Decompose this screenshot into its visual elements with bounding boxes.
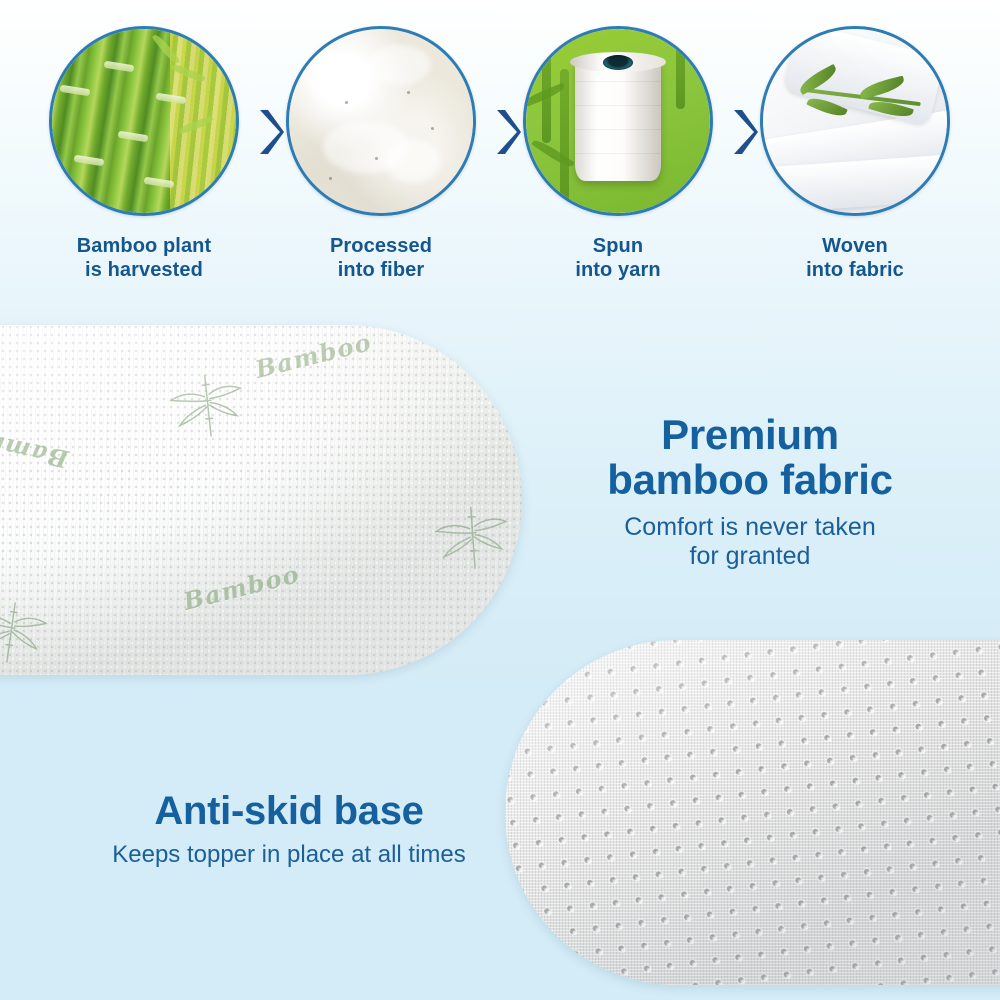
process-strip: Bamboo plant is harvested <box>0 0 1000 320</box>
fabric-shading-overlay <box>0 325 522 675</box>
bamboo-fabric-swatch: Bamboo Bamboo Bamboo Bamboo <box>0 325 522 675</box>
step-label-line1: Bamboo plant <box>44 234 244 258</box>
anti-skid-subtext: Keeps topper in place at all times <box>44 841 534 869</box>
anti-skid-heading: Anti-skid base <box>44 790 534 833</box>
woven-white-fabric-photo <box>760 26 950 216</box>
premium-heading-line1: Premium <box>661 411 839 458</box>
process-step-3: Spun into yarn <box>518 26 718 283</box>
skid-shading-overlay <box>505 640 1000 985</box>
anti-skid-dotted-base-swatch <box>505 640 1000 985</box>
process-step-2-label: Processed into fiber <box>281 234 481 283</box>
step-label-line2: into fabric <box>755 258 955 282</box>
premium-subtext-line2: for granted <box>690 542 811 570</box>
bamboo-grove-photo <box>49 26 239 216</box>
infographic-canvas: Bamboo plant is harvested <box>0 0 1000 1000</box>
step-label-line2: into fiber <box>281 258 481 282</box>
premium-heading-line2: bamboo fabric <box>607 456 892 503</box>
step-label-line1: Processed <box>281 234 481 258</box>
premium-fabric-subtext: Comfort is never taken for granted <box>540 513 960 572</box>
premium-fabric-heading: Premium bamboo fabric <box>540 412 960 503</box>
bamboo-fiber-fluff-photo <box>286 26 476 216</box>
anti-skid-copy-block: Anti-skid base Keeps topper in place at … <box>44 790 534 870</box>
process-step-1-label: Bamboo plant is harvested <box>44 234 244 283</box>
process-step-1: Bamboo plant is harvested <box>44 26 244 283</box>
yarn-cone-photo <box>523 26 713 216</box>
process-step-4-label: Woven into fabric <box>755 234 955 283</box>
premium-subtext-line1: Comfort is never taken <box>624 513 876 541</box>
step-label-line2: into yarn <box>518 258 718 282</box>
process-step-3-label: Spun into yarn <box>518 234 718 283</box>
process-step-2: Processed into fiber <box>281 26 481 283</box>
process-step-4: Woven into fabric <box>755 26 955 283</box>
step-label-line2: is harvested <box>44 258 244 282</box>
step-label-line1: Woven <box>755 234 955 258</box>
premium-fabric-copy-block: Premium bamboo fabric Comfort is never t… <box>540 412 960 572</box>
step-label-line1: Spun <box>518 234 718 258</box>
